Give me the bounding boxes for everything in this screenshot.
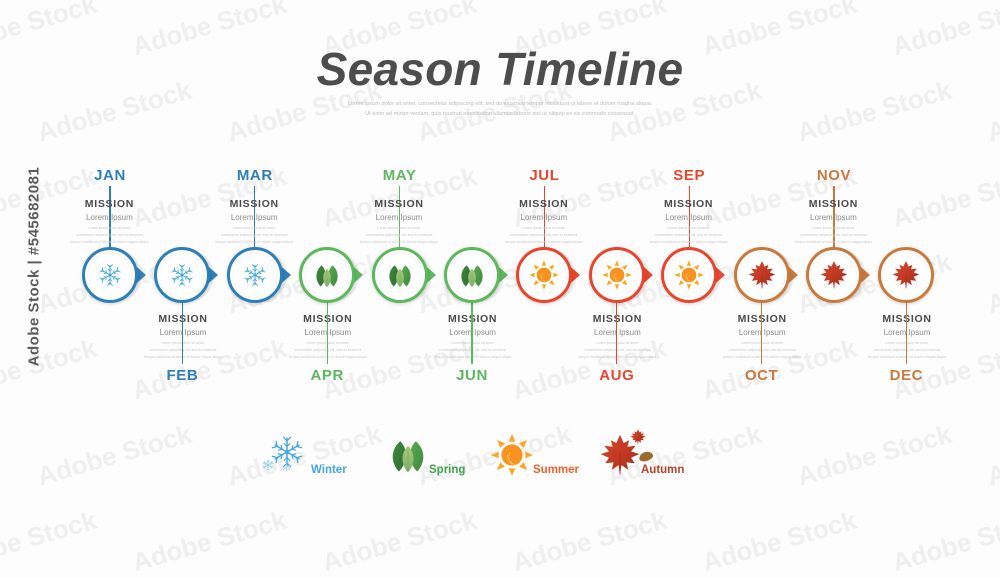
mission-block: MISSION Lorem Ipsum Lorem ipsum dolor si… — [344, 198, 454, 247]
page-title: Season Timeline — [0, 42, 1000, 96]
mission-body: Lorem ipsum dolor sit amet, consectetur … — [778, 225, 888, 247]
month-label-nov[interactable]: NOV — [817, 167, 851, 184]
watermark-text: Adobe Stock — [889, 505, 1000, 578]
mission-body-line-1: Lorem ipsum dolor sit amet, — [634, 225, 744, 232]
subtitle-line-1: Lorem ipsum dolor sit amet, consectetur … — [320, 99, 680, 109]
sun-icon — [589, 247, 645, 303]
month-connector-line — [761, 303, 762, 364]
watermark-text: Adobe Stock — [889, 161, 1000, 235]
sun-icon — [661, 247, 717, 303]
mission-subheading: Lorem Ipsum — [54, 213, 164, 222]
legend-item-spring[interactable]: Spring — [383, 420, 465, 482]
leaves-icon — [444, 247, 500, 303]
month-label-feb[interactable]: FEB — [166, 367, 198, 384]
timeline-node-apr[interactable] — [299, 247, 355, 303]
snowflake-icon — [154, 247, 210, 303]
watermark-text: Adobe Stock — [0, 505, 100, 578]
mission-block: MISSION Lorem Ipsum Lorem ipsum dolor si… — [634, 198, 744, 247]
timeline-node-jul[interactable] — [516, 247, 572, 303]
timeline-node-nov[interactable] — [806, 247, 862, 303]
mission-body-line-2: consectetur adipiscing elit, sed do eius… — [199, 232, 309, 239]
mission-body: Lorem ipsum dolor sit amet, consectetur … — [489, 225, 599, 247]
mission-body-line-1: Lorem ipsum dolor sit amet, — [199, 225, 309, 232]
month-connector-line — [327, 303, 328, 364]
legend-label: Summer — [533, 464, 579, 476]
timeline-node-mar[interactable] — [227, 247, 283, 303]
snowflake-icon — [227, 247, 283, 303]
mission-body-line-3: tempor incididunt ut labore et dolore ma… — [489, 239, 599, 246]
watermark-text: Adobe Stock — [129, 505, 290, 578]
watermark-text: Adobe Stock — [34, 419, 195, 493]
mission-block: MISSION Lorem Ipsum Lorem ipsum dolor si… — [778, 198, 888, 247]
month-label-sep[interactable]: SEP — [673, 167, 705, 184]
timeline-node-feb[interactable] — [154, 247, 210, 303]
snowflake-icon — [265, 430, 317, 482]
maple-leaf-icon — [806, 247, 862, 303]
month-connector-line — [471, 303, 472, 364]
mission-subheading: Lorem Ipsum — [634, 213, 744, 222]
maple-leaf-icon — [734, 247, 790, 303]
month-label-oct[interactable]: OCT — [745, 367, 778, 384]
legend-item-winter[interactable]: Winter — [265, 420, 347, 482]
stock-id-watermark: Adobe Stock | #545682081 — [26, 137, 43, 397]
sun-icon — [487, 430, 539, 482]
mission-body-line-1: Lorem ipsum dolor sit amet, — [489, 225, 599, 232]
sun-icon-main — [489, 432, 535, 483]
mission-body-line-3: tempor incididunt ut labore et dolore ma… — [344, 239, 454, 246]
snowflake-small-icon-2 — [281, 460, 292, 478]
month-label-mar[interactable]: MAR — [237, 167, 273, 184]
mission-subheading: Lorem Ipsum — [489, 213, 599, 222]
infographic-canvas: Adobe StockAdobe StockAdobe StockAdobe S… — [0, 0, 1000, 522]
subtitle-line-2: Ut enim ad minim veniam, quis nostrud ex… — [320, 109, 680, 119]
watermark-text: Adobe Stock — [699, 505, 860, 578]
legend-item-autumn[interactable]: Autumn — [595, 420, 684, 482]
legend-item-summer[interactable]: Summer — [487, 420, 579, 482]
mission-body-line-2: consectetur adipiscing elit, sed do eius… — [489, 232, 599, 239]
mission-body-line-3: tempor incididunt ut labore et dolore ma… — [778, 239, 888, 246]
month-label-jan[interactable]: JAN — [94, 167, 126, 184]
maple-leaf-small-icon — [629, 428, 647, 451]
timeline-node-sep[interactable] — [661, 247, 717, 303]
mission-subheading: Lorem Ipsum — [199, 213, 309, 222]
month-label-apr[interactable]: APR — [310, 367, 343, 384]
mission-body-line-1: Lorem ipsum dolor sit amet, — [344, 225, 454, 232]
watermark-text: Adobe Stock — [984, 419, 1000, 493]
sun-icon — [516, 247, 572, 303]
month-label-jul[interactable]: JUL — [529, 167, 559, 184]
mission-block: MISSION Lorem Ipsum Lorem ipsum dolor si… — [54, 198, 164, 247]
leaves-icon — [383, 430, 435, 482]
month-connector-line — [616, 303, 617, 364]
mission-heading: MISSION — [344, 198, 454, 210]
watermark-text: Adobe Stock — [319, 505, 480, 578]
month-connector-line — [182, 303, 183, 364]
month-label-may[interactable]: MAY — [383, 167, 417, 184]
mission-body-line-2: consectetur adipiscing elit, sed do eius… — [634, 232, 744, 239]
mission-subheading: Lorem Ipsum — [344, 213, 454, 222]
snowflake-icon — [82, 247, 138, 303]
watermark-text: Adobe Stock — [509, 505, 670, 578]
month-label-dec[interactable]: DEC — [890, 367, 923, 384]
mission-body: Lorem ipsum dolor sit amet, consectetur … — [634, 225, 744, 247]
mission-body-line-2: consectetur adipiscing elit, sed do eius… — [344, 232, 454, 239]
timeline-node-jan[interactable] — [82, 247, 138, 303]
timeline-node-may[interactable] — [372, 247, 428, 303]
watermark-text: Adobe Stock — [984, 247, 1000, 321]
mission-body-line-2: consectetur adipiscing elit, sed do eius… — [778, 232, 888, 239]
watermark-text: Adobe Stock — [0, 333, 100, 407]
mission-body-line-2: consectetur adipiscing elit, sed do eius… — [54, 232, 164, 239]
mission-heading: MISSION — [199, 198, 309, 210]
mission-heading: MISSION — [634, 198, 744, 210]
leaves-icon-main — [385, 432, 431, 483]
month-connector-line — [906, 303, 907, 364]
mission-body-line-3: tempor incididunt ut labore et dolore ma… — [199, 239, 309, 246]
maple-leaf-icon — [878, 247, 934, 303]
mission-block: MISSION Lorem Ipsum Lorem ipsum dolor si… — [199, 198, 309, 247]
mission-body: Lorem ipsum dolor sit amet, consectetur … — [344, 225, 454, 247]
mission-block: MISSION Lorem Ipsum Lorem ipsum dolor si… — [489, 198, 599, 247]
mission-body-line-1: Lorem ipsum dolor sit amet, — [778, 225, 888, 232]
timeline-node-aug[interactable] — [589, 247, 645, 303]
leaves-icon — [299, 247, 355, 303]
legend-label: Autumn — [641, 464, 684, 476]
mission-body: Lorem ipsum dolor sit amet, consectetur … — [54, 225, 164, 247]
mission-heading: MISSION — [54, 198, 164, 210]
page-subtitle: Lorem ipsum dolor sit amet, consectetur … — [320, 99, 680, 120]
snowflake-small-icon-1 — [261, 458, 275, 477]
mission-heading: MISSION — [489, 198, 599, 210]
mission-heading: MISSION — [778, 198, 888, 210]
maple-leaf-icon — [595, 430, 647, 482]
mission-body-line-3: tempor incididunt ut labore et dolore ma… — [54, 239, 164, 246]
watermark-text: Adobe Stock — [794, 419, 955, 493]
mission-subheading: Lorem Ipsum — [778, 213, 888, 222]
month-label-aug[interactable]: AUG — [599, 367, 634, 384]
leaves-icon — [372, 247, 428, 303]
mission-body: Lorem ipsum dolor sit amet, consectetur … — [199, 225, 309, 247]
timeline-node-oct[interactable] — [734, 247, 790, 303]
timeline-node-jun[interactable] — [444, 247, 500, 303]
mission-body-line-3: tempor incididunt ut labore et dolore ma… — [634, 239, 744, 246]
mission-body-line-1: Lorem ipsum dolor sit amet, — [54, 225, 164, 232]
timeline-node-dec[interactable] — [878, 247, 934, 303]
month-label-jun[interactable]: JUN — [456, 367, 488, 384]
